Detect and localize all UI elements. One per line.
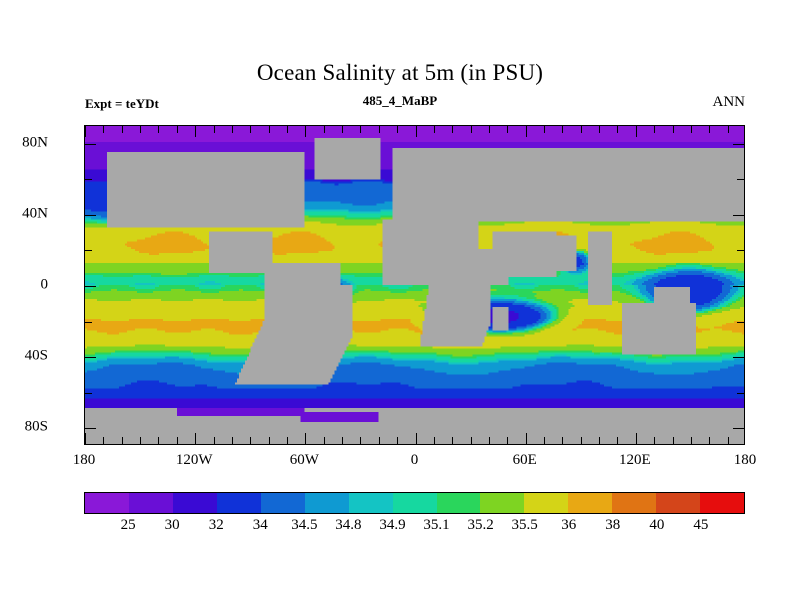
- x-tick: [709, 126, 710, 133]
- x-tick: [636, 433, 637, 444]
- x-tick: [728, 437, 729, 444]
- colorbar-band-9: [480, 493, 524, 513]
- salinity-map-figure: Ocean Salinity at 5m (in PSU) 485_4_MaBP…: [0, 0, 800, 600]
- x-tick: [140, 437, 141, 444]
- colorbar-band-13: [656, 493, 700, 513]
- x-tick: [416, 126, 417, 137]
- colorbar-tick-30: 30: [165, 517, 180, 534]
- x-axis-label: 180: [73, 452, 96, 469]
- x-tick: [360, 437, 361, 444]
- x-tick: [360, 126, 361, 133]
- x-tick: [452, 126, 453, 133]
- colorbar-band-3: [217, 493, 261, 513]
- colorbar-tick-34.9: 34.9: [379, 517, 405, 534]
- x-tick: [122, 437, 123, 444]
- x-tick: [434, 437, 435, 444]
- y-tick: [733, 428, 744, 429]
- x-tick: [544, 437, 545, 444]
- x-axis-label: 180: [734, 452, 757, 469]
- y-tick: [85, 215, 96, 216]
- x-tick: [342, 437, 343, 444]
- x-tick: [581, 437, 582, 444]
- colorbar-tick-25: 25: [121, 517, 136, 534]
- x-tick: [232, 126, 233, 133]
- x-tick: [471, 126, 472, 133]
- x-tick: [507, 437, 508, 444]
- y-tick: [85, 428, 96, 429]
- y-tick: [85, 393, 92, 394]
- x-tick: [85, 126, 86, 137]
- x-tick: [177, 437, 178, 444]
- x-axis-label: 120E: [619, 452, 651, 469]
- colorbar-band-2: [173, 493, 217, 513]
- y-axis-label-40S: 40S: [25, 348, 48, 365]
- colorbar-tick-35.5: 35.5: [512, 517, 538, 534]
- x-tick: [342, 126, 343, 133]
- x-tick: [177, 126, 178, 133]
- x-tick: [673, 437, 674, 444]
- season-label: ANN: [713, 94, 746, 111]
- x-tick: [599, 126, 600, 133]
- y-axis-label-80N: 80N: [22, 134, 48, 151]
- experiment-label: Expt = teYDt: [85, 96, 159, 112]
- x-tick: [434, 126, 435, 133]
- x-tick: [691, 437, 692, 444]
- x-tick: [471, 437, 472, 444]
- x-tick: [250, 126, 251, 133]
- colorbar-band-14: [700, 493, 744, 513]
- x-tick: [269, 437, 270, 444]
- x-tick: [103, 437, 104, 444]
- x-tick: [287, 126, 288, 133]
- x-tick: [654, 437, 655, 444]
- x-tick: [617, 126, 618, 133]
- x-tick: [654, 126, 655, 133]
- colorbar-tick-38: 38: [605, 517, 620, 534]
- x-tick: [617, 437, 618, 444]
- x-tick: [287, 437, 288, 444]
- colorbar-band-5: [305, 493, 349, 513]
- x-tick: [103, 126, 104, 133]
- y-tick: [733, 357, 744, 358]
- y-tick: [733, 215, 744, 216]
- colorbar-band-1: [129, 493, 173, 513]
- x-tick: [673, 126, 674, 133]
- x-tick: [581, 126, 582, 133]
- x-tick: [599, 437, 600, 444]
- x-axis-label: 0: [411, 452, 419, 469]
- x-tick: [544, 126, 545, 133]
- y-tick: [85, 357, 96, 358]
- colorbar-band-11: [568, 493, 612, 513]
- salinity-raster: [85, 126, 744, 444]
- colorbar-tick-35.1: 35.1: [423, 517, 449, 534]
- map-plot-area: [84, 125, 745, 445]
- colorbar-tick-36: 36: [561, 517, 576, 534]
- page-title: Ocean Salinity at 5m (in PSU): [0, 60, 800, 86]
- y-tick: [737, 250, 744, 251]
- x-axis-label: 60W: [290, 452, 319, 469]
- x-tick: [158, 437, 159, 444]
- y-axis-label-0: 0: [41, 277, 49, 294]
- x-tick: [709, 437, 710, 444]
- x-tick: [140, 126, 141, 133]
- x-tick: [232, 437, 233, 444]
- colorbar: [84, 492, 745, 514]
- colorbar-tick-45: 45: [693, 517, 708, 534]
- y-tick: [85, 322, 92, 323]
- x-tick: [122, 126, 123, 133]
- colorbar-labels: 2530323434.534.834.935.135.235.536384045: [84, 517, 745, 539]
- y-tick: [733, 144, 744, 145]
- colorbar-tick-40: 40: [649, 517, 664, 534]
- colorbar-band-10: [524, 493, 568, 513]
- y-tick: [733, 286, 744, 287]
- x-tick: [158, 126, 159, 133]
- x-tick: [489, 126, 490, 133]
- colorbar-band-8: [437, 493, 481, 513]
- x-tick: [489, 437, 490, 444]
- x-tick: [562, 437, 563, 444]
- colorbar-tick-34.8: 34.8: [335, 517, 361, 534]
- x-tick: [728, 126, 729, 133]
- x-tick: [324, 126, 325, 133]
- x-tick: [397, 126, 398, 133]
- x-tick: [636, 126, 637, 137]
- x-tick: [397, 437, 398, 444]
- y-tick: [737, 179, 744, 180]
- x-tick: [507, 126, 508, 133]
- colorbar-band-4: [261, 493, 305, 513]
- x-tick: [305, 433, 306, 444]
- x-tick: [526, 126, 527, 137]
- colorbar-tick-35.2: 35.2: [467, 517, 493, 534]
- x-tick: [379, 437, 380, 444]
- x-tick: [214, 126, 215, 133]
- x-tick: [195, 433, 196, 444]
- colorbar-tick-32: 32: [209, 517, 224, 534]
- x-axis-label: 60E: [513, 452, 537, 469]
- colorbar-band-7: [393, 493, 437, 513]
- colorbar-band-6: [349, 493, 393, 513]
- y-tick: [85, 144, 96, 145]
- x-tick: [269, 126, 270, 133]
- y-tick: [737, 393, 744, 394]
- x-axis-label: 120W: [176, 452, 213, 469]
- y-tick: [737, 322, 744, 323]
- x-tick: [214, 437, 215, 444]
- x-tick: [250, 437, 251, 444]
- x-tick: [324, 437, 325, 444]
- y-tick: [85, 179, 92, 180]
- y-tick: [85, 286, 96, 287]
- colorbar-band-12: [612, 493, 656, 513]
- x-tick: [452, 437, 453, 444]
- y-tick: [85, 250, 92, 251]
- x-tick: [85, 433, 86, 444]
- colorbar-tick-34.5: 34.5: [291, 517, 317, 534]
- x-tick: [195, 126, 196, 137]
- x-tick: [691, 126, 692, 133]
- x-tick: [416, 433, 417, 444]
- y-axis-label-80S: 80S: [25, 419, 48, 436]
- x-tick: [305, 126, 306, 137]
- x-tick: [562, 126, 563, 133]
- y-axis-label-40N: 40N: [22, 205, 48, 222]
- x-tick: [526, 433, 527, 444]
- salinity-field: [85, 126, 744, 444]
- colorbar-band-0: [85, 493, 129, 513]
- x-tick: [379, 126, 380, 133]
- colorbar-tick-34: 34: [253, 517, 268, 534]
